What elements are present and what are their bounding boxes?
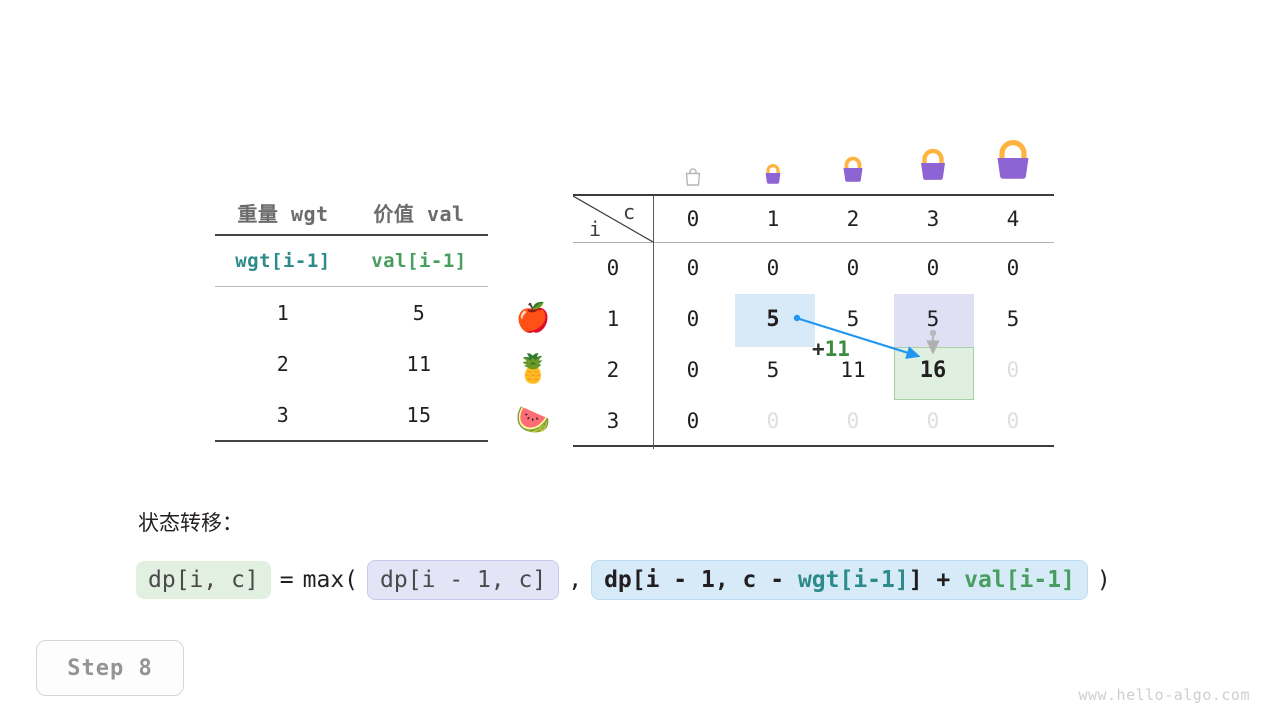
state-transition-formula: dp[i, c] = max( dp[i - 1, c] , dp[i - 1,…	[136, 560, 1120, 600]
dp-cell-1-0: 0	[653, 294, 733, 345]
item-table-subheader-row: wgt[i-1] val[i-1]	[215, 236, 488, 286]
fruit-icon-column: 🍎 🍍 🍉	[508, 292, 558, 445]
dp-cell-1-3: 5	[893, 294, 973, 345]
dp-row-header-3: 3	[573, 396, 653, 447]
corner-diagonal-icon	[573, 196, 653, 242]
formula-equals: =	[280, 567, 294, 593]
bag-capacity-icons	[653, 120, 1054, 188]
pineapple-icon: 🍍	[508, 343, 558, 394]
dp-cell-0-4: 0	[973, 243, 1053, 294]
dp-col-header-0: 0	[653, 196, 733, 242]
bag-icon-small	[733, 120, 813, 188]
subheader-wgt: wgt[i-1]	[215, 250, 351, 272]
corner-label-c: c	[623, 200, 635, 224]
apple-icon: 🍎	[508, 292, 558, 343]
watermelon-icon: 🍉	[508, 394, 558, 445]
dp-col-header-2: 2	[813, 196, 893, 242]
cell-wgt: 2	[215, 352, 351, 376]
dp-col-header-4: 4	[973, 196, 1053, 242]
bag-icon-large	[893, 120, 973, 188]
header-weight: 重量 wgt	[215, 198, 351, 227]
formula-take-val: val[i-1]	[964, 567, 1075, 593]
formula-result-chip: dp[i, c]	[136, 561, 271, 599]
dp-cell-0-0: 0	[653, 243, 733, 294]
dp-matrix: c i 0 1 2 3 4 0 0 0 0 0 0 1 0 5 5 5 5	[573, 194, 1054, 447]
cell-val: 11	[351, 352, 487, 376]
formula-max-open: max(	[303, 567, 358, 593]
formula-skip-chip: dp[i - 1, c]	[367, 560, 559, 600]
table-row: 1 5	[215, 287, 488, 338]
dp-cell-1-4: 5	[973, 294, 1053, 345]
bag-icon-medium	[813, 120, 893, 188]
cell-val: 15	[351, 403, 487, 427]
subheader-val: val[i-1]	[351, 250, 487, 272]
table-row: 2 11	[215, 338, 488, 389]
arrow-added-value: 11	[825, 337, 850, 361]
dp-cell-0-1: 0	[733, 243, 813, 294]
bag-icon-xlarge	[973, 120, 1053, 188]
dp-row-header-0: 0	[573, 243, 653, 294]
item-table-rule-bottom	[215, 440, 488, 442]
formula-take-prefix: dp[i - 1, c -	[604, 567, 798, 593]
dp-cell-2-0: 0	[653, 345, 733, 396]
dp-cell-3-4: 0	[973, 396, 1053, 447]
formula-take-chip: dp[i - 1, c - wgt[i-1]] + val[i-1]	[591, 560, 1088, 600]
table-row: 3 15	[215, 389, 488, 440]
item-weight-value-table: 重量 wgt 价值 val wgt[i-1] val[i-1] 1 5 2 11…	[215, 190, 488, 442]
step-badge: Step 8	[36, 640, 184, 696]
cell-wgt: 3	[215, 403, 351, 427]
arrow-value-label: +11	[812, 337, 850, 361]
dp-row-0: 0 0 0 0 0 0	[573, 243, 1054, 294]
dp-cell-0-2: 0	[813, 243, 893, 294]
cell-wgt: 1	[215, 301, 351, 325]
dp-row-header-1: 1	[573, 294, 653, 345]
dp-cell-3-2: 0	[813, 396, 893, 447]
corner-label-i: i	[589, 217, 601, 241]
dp-cell-2-3: 16	[893, 345, 973, 396]
formula-comma: ,	[568, 567, 582, 593]
formula-close-paren: )	[1097, 567, 1111, 593]
dp-cell-1-1: 5	[733, 294, 813, 345]
transition-caption: 状态转移：	[138, 507, 243, 537]
dp-cell-2-4: 0	[973, 345, 1053, 396]
dp-cell-3-0: 0	[653, 396, 733, 447]
dp-col-header-1: 1	[733, 196, 813, 242]
bag-icon-empty	[653, 120, 733, 188]
cell-val: 5	[351, 301, 487, 325]
formula-take-mid: ] +	[909, 567, 964, 593]
formula-take-wgt: wgt[i-1]	[798, 567, 909, 593]
dp-cell-0-3: 0	[893, 243, 973, 294]
dp-header-row: c i 0 1 2 3 4	[573, 196, 1054, 243]
dp-cell-3-1: 0	[733, 396, 813, 447]
item-table-header-row: 重量 wgt 价值 val	[215, 190, 488, 234]
slide-canvas: 重量 wgt 价值 val wgt[i-1] val[i-1] 1 5 2 11…	[0, 0, 1280, 720]
dp-cell-3-3: 0	[893, 396, 973, 447]
dp-corner-cell: c i	[573, 196, 653, 242]
header-value: 价值 val	[351, 198, 487, 227]
dp-col-header-3: 3	[893, 196, 973, 242]
arrow-plus-sign: +	[812, 337, 825, 361]
dp-row-3: 3 0 0 0 0 0	[573, 396, 1054, 447]
watermark: www.hello-algo.com	[1078, 686, 1250, 704]
dp-row-header-2: 2	[573, 345, 653, 396]
dp-cell-2-1: 5	[733, 345, 813, 396]
